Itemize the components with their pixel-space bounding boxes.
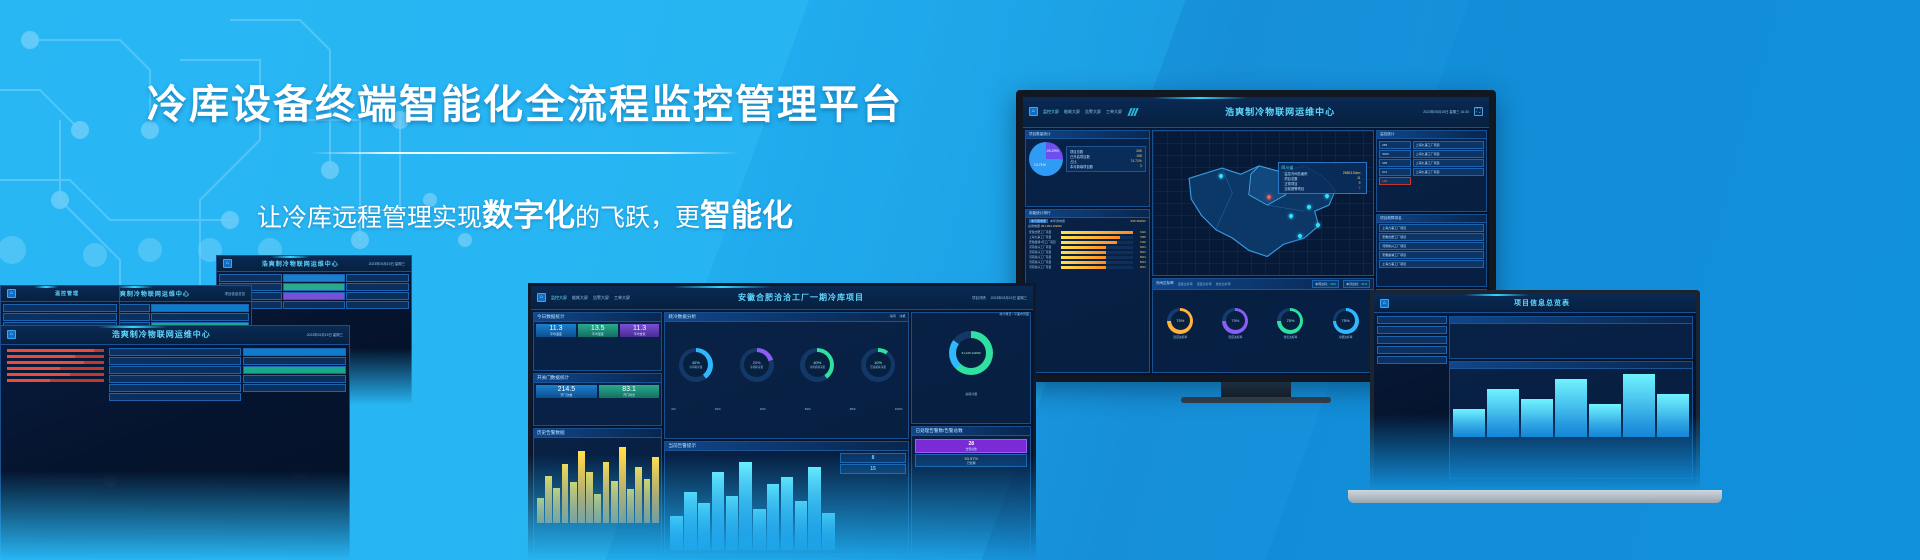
gauge-row: 75% 温度达标率 75% 湿度达标率 <box>1153 290 1373 355</box>
panel-cool-total: 31,215.12kWh 总耗冷量 <box>911 312 1031 424</box>
monitor-e-mid <box>109 348 242 552</box>
monitor-e-left <box>4 348 107 552</box>
card-value: 214.5 <box>537 386 596 393</box>
legend-cold-room: 冷间 <box>889 314 895 320</box>
tab-alarm[interactable]: 告警大屏 <box>1085 109 1101 115</box>
map-stat-row: 当前报警项目2 <box>1281 186 1363 191</box>
bar-track <box>1061 256 1133 259</box>
gauge-temperature: 75% 温度达标率 <box>1167 308 1193 339</box>
alarm-row[interactable]: 上海九事工厂项目 <box>1379 224 1484 232</box>
ring-label: 压缩机耗冷量 <box>870 365 886 369</box>
row[interactable] <box>3 304 117 312</box>
bar-track <box>1061 251 1133 254</box>
laptop-body <box>1374 313 1696 482</box>
bar-label: 河南新兴工厂项目 <box>1029 260 1059 264</box>
panel-handled-alarm: 已处理告警数/告警总数 28 告警总数 53.57% 已处理 <box>911 426 1031 555</box>
cool-ring-2: 20% 冷机耗冷量 <box>740 348 774 382</box>
laptop-base <box>1348 490 1722 503</box>
history-alarm-chart <box>534 438 661 526</box>
bar-value: 6513 <box>1135 261 1146 264</box>
tab-workorder[interactable]: 工单大屏 <box>1106 109 1122 115</box>
realtime-chart <box>667 453 837 552</box>
monitor-base <box>1181 397 1331 403</box>
monitor-c-meta: 项目信息总览 <box>225 291 245 296</box>
panel-monitor-stats: 监控统计 265 3025 335 972 135 上海九事工厂项目 <box>1376 130 1487 213</box>
bar-track <box>1061 246 1133 249</box>
reach-tab-oxygen[interactable]: 含氧达标率 <box>1216 282 1231 286</box>
row[interactable] <box>109 366 242 374</box>
panel-title: 今日数据统计 <box>534 313 661 322</box>
bar-label: 安徽巢湖1号工厂项目 <box>1029 240 1059 244</box>
handled-legend: 28 告警总数 53.57% 已处理 <box>915 439 1027 467</box>
panel-today-stats: 今日数据统计 11.3 平均温度 13.5 平均湿度 11.3 <box>533 312 662 370</box>
ring-label: 冷机耗冷量 <box>750 365 763 369</box>
panel-reach-rate: 冷间达标率 温度达标率 湿度达标率 含氧达标率 本周达标：29% 本月达标：31… <box>1152 278 1374 373</box>
bar-fill <box>1061 236 1120 239</box>
row[interactable] <box>243 348 346 356</box>
card-value: 83.1 <box>600 386 659 393</box>
monitor-row[interactable]: 上海九事工厂项目 <box>1413 141 1484 149</box>
gauge-humidity: 75% 湿度达标率 <box>1222 308 1248 339</box>
alarm-row[interactable]: 上海九事工厂项目 <box>1379 260 1484 268</box>
subtitle-middle: 的飞跃，更 <box>575 204 700 232</box>
realtime-body: 8 15 <box>665 451 908 554</box>
axis-tick: 0% <box>671 407 675 411</box>
gauge-cooling: 75% 冷量达标率 <box>1333 308 1359 339</box>
row[interactable] <box>243 357 346 365</box>
laptop-right-device: ⌂ 项目信息总览表 <box>1370 290 1700 490</box>
cool-analysis-header: 耗冷数据分析 冷间 冷机 <box>665 313 908 322</box>
bar-row: 河南新兴工厂项目6513 <box>1029 245 1146 249</box>
monitor-row[interactable]: 上海九事工厂项目 <box>1413 150 1484 158</box>
center-header: ⌂ 监控大屏 能耗大屏 告警大屏 工单大屏 安徽合肥洽洽工厂一期冷库项目 项目详… <box>531 286 1033 310</box>
subtitle-emphasis-2: 智能化 <box>700 198 793 233</box>
bar-track <box>1061 236 1133 239</box>
gauge-label: 湿度达标率 <box>1222 335 1248 339</box>
banner-root: 冷库设备终端智能化全流程监控管理平台 让冷库远程管理实现数字化的飞跃，更智能化 … <box>0 0 1920 560</box>
monitor-e-device: ⌂ 浩爽制冷物联网运维中心 2023年05月15日 星期三 <box>0 325 350 560</box>
energy-bar-chart: 安徽合肥工厂项目6116 上海九事工厂项目7665 安徽巢湖1号工厂项目7402… <box>1026 230 1149 269</box>
monitor-badge: 3025 <box>1379 150 1410 158</box>
list-item[interactable] <box>151 313 249 321</box>
sidebar-item[interactable] <box>1377 336 1447 344</box>
header-slash-decoration <box>1129 108 1137 116</box>
reach-tab-temp[interactable]: 温度达标率 <box>1178 282 1193 286</box>
cool-total-ring-wrap: 31,215.12kWh <box>912 313 1030 392</box>
china-map-icon <box>1153 131 1373 275</box>
bar-row: 河南新兴工厂项目6513 <box>1029 265 1146 269</box>
cool-total-label: 总耗冷量 <box>912 392 1030 396</box>
reach-tab-humidity[interactable]: 湿度达标率 <box>1197 282 1212 286</box>
subtitle-prefix: 让冷库远程管理实现 <box>257 204 482 232</box>
panel-door-stats: 开关门数据统计 214.5 开门次数 83.1 开门时长 <box>533 373 662 426</box>
dashboard-timestamp: 2023年05月15日 星期三 16:30 <box>1423 109 1469 114</box>
grid-cell[interactable] <box>346 301 409 309</box>
gauge-label: 含氧达标率 <box>1277 335 1303 339</box>
energy-tab-year[interactable]: 本年用电量 <box>1050 219 1065 223</box>
stat-value: 2 <box>1359 186 1361 191</box>
stat-value: 3 <box>1140 164 1142 169</box>
monitor-badge: 265 <box>1379 141 1410 149</box>
grid-cell[interactable] <box>283 292 346 300</box>
panel-title: 项目故障排名 <box>1377 215 1486 223</box>
today-card-humidity: 13.5 平均湿度 <box>578 324 618 337</box>
grid-cell[interactable] <box>219 274 282 282</box>
bar-fill <box>1061 251 1106 254</box>
card-label: 本周达标： <box>1315 282 1330 286</box>
cool-ring-4: 10% 压缩机耗冷量 <box>861 348 895 382</box>
bar-label: 上海九事工厂项目 <box>1029 235 1059 239</box>
subtitle-emphasis-1: 数字化 <box>482 198 575 233</box>
panel-realtime-alarm: 当前告警提示 8 15 <box>664 441 909 555</box>
home-icon[interactable]: ⌂ <box>7 289 16 298</box>
energy-secondary-value: 365.36kWh <box>1131 219 1146 223</box>
grid-cell[interactable] <box>346 274 409 282</box>
bar-row: 上海九事工厂项目7665 <box>1029 235 1146 239</box>
monitor-row[interactable]: 上海九事工厂项目 <box>1413 159 1484 167</box>
reach-rate-header: 冷间达标率 温度达标率 湿度达标率 含氧达标率 本周达标：29% 本月达标：31… <box>1153 279 1373 290</box>
handled-body: 28 告警总数 53.57% 已处理 <box>912 436 1030 470</box>
monitor-badge-alert: 135 <box>1379 177 1410 185</box>
map-info-card: 四川省 监控冷间总面积26503.54m² 项目总数11 正常项目9 当前报警项… <box>1278 162 1366 194</box>
home-icon[interactable]: ⌂ <box>223 259 232 268</box>
home-icon[interactable]: ⌂ <box>7 330 16 339</box>
cool-ring-3: 40% 冷风机耗冷量 <box>800 348 834 382</box>
center-footer-note: 统计概览 / 平面布局图 <box>999 312 1029 316</box>
monitor-b-title: 浩爽制冷物联网运维中心 <box>237 259 364 268</box>
panel-title: 冷间达标率 <box>1156 281 1174 286</box>
reach-card-week: 本周达标：29% <box>1312 280 1339 288</box>
bar-track <box>1061 266 1133 269</box>
center-body: 今日数据统计 11.3 平均温度 13.5 平均湿度 11.3 <box>531 310 1033 557</box>
laptop-title: 项目信息总览表 <box>1394 298 1690 308</box>
alarm-row[interactable]: 安徽巢湖工厂项目 <box>1379 251 1484 259</box>
bar-track <box>1061 241 1133 244</box>
panel-title: 监控统计 <box>1377 131 1486 139</box>
panel-title: 当前告警提示 <box>665 442 908 451</box>
bar-track <box>1061 231 1133 234</box>
list-item[interactable] <box>151 304 249 312</box>
monitor-d-title: 温控管理 <box>21 290 113 297</box>
center-dashboard-screen: ⌂ 监控大屏 能耗大屏 告警大屏 工单大屏 安徽合肥洽洽工厂一期冷库项目 项目详… <box>528 283 1036 560</box>
stat-label: 本月新增项目数 <box>1070 164 1093 169</box>
tab-workorder[interactable]: 工单大屏 <box>614 295 630 301</box>
today-card-temp: 11.3 平均温度 <box>536 324 576 337</box>
bar-fill <box>1061 246 1106 249</box>
today-card-oxygen: 11.3 平均含氧 <box>620 324 660 337</box>
row[interactable] <box>3 313 117 321</box>
panel-cool-analysis: 耗冷数据分析 冷间 冷机 40% 冷间耗冷量 <box>664 312 909 438</box>
axis-tick: 20% <box>715 407 721 411</box>
panel-china-map: 四川省 监控冷间总面积26503.54m² 项目总数11 正常项目9 当前报警项… <box>1152 130 1374 276</box>
bar-value: 7402 <box>1135 241 1146 244</box>
bar-value: 6116 <box>1135 231 1146 234</box>
bar-value: 7665 <box>1135 236 1146 239</box>
monitor-e-title: 浩爽制冷物联网运维中心 <box>21 329 302 340</box>
center-left-column: 今日数据统计 11.3 平均温度 13.5 平均湿度 11.3 <box>533 312 662 555</box>
sidebar-item[interactable] <box>1377 326 1447 334</box>
home-icon[interactable]: ⌂ <box>1380 299 1389 308</box>
monitor-e-screen: ⌂ 浩爽制冷物联网运维中心 2023年05月15日 星期三 <box>0 325 350 560</box>
monitor-b-meta: 2023年05月15日 星期三 <box>369 261 405 266</box>
center-right-column: 31,215.12kWh 总耗冷量 已处理告警数/告警总数 28 告警总数 <box>911 312 1031 555</box>
laptop-sidebar <box>1377 316 1447 479</box>
gauge-value: 75% <box>1226 311 1245 330</box>
handled-legend-label-2: 已处理 <box>918 461 1024 465</box>
card-label: 开门次数 <box>537 393 596 397</box>
monitor-d-header: ⌂ 温控管理 <box>1 286 119 302</box>
card-label: 平均含氧 <box>621 332 659 336</box>
row[interactable] <box>109 357 242 365</box>
tab-alarm[interactable]: 告警大屏 <box>593 295 609 301</box>
panel-title: 耗冷数据分析 <box>668 314 696 320</box>
handled-legend-label: 告警总数 <box>918 447 1024 451</box>
project-stats-list: 项目总数265 已开启项目数198 占比74.71% 本月新增项目数3 <box>1066 146 1146 172</box>
cool-ring-row: 40% 冷间耗冷量 20% 冷机耗冷量 <box>665 322 908 406</box>
monitor-badge: 972 <box>1379 168 1410 176</box>
panel-history-alarm: 历史告警数据 <box>533 428 662 555</box>
row[interactable] <box>243 375 346 383</box>
bar-track <box>1061 261 1133 264</box>
center-monitor-device: ⌂ 监控大屏 能耗大屏 告警大屏 工单大屏 安徽合肥洽洽工厂一期冷库项目 项目详… <box>528 283 1036 560</box>
center-right-meta: 项目详情 <box>972 295 986 300</box>
monitor-badge-column: 265 3025 335 972 135 <box>1379 141 1410 185</box>
row[interactable] <box>109 393 242 401</box>
laptop-main <box>1449 316 1693 479</box>
grid-cell[interactable] <box>283 301 346 309</box>
page-title: 冷库设备终端智能化全流程监控管理平台 <box>0 72 1050 130</box>
sidebar-item[interactable] <box>1377 356 1447 364</box>
realtime-value-1: 8 <box>872 455 875 461</box>
legend-chiller: 冷机 <box>899 314 905 320</box>
door-card-duration: 83.1 开门时长 <box>599 385 660 398</box>
axis-tick: 40% <box>760 407 766 411</box>
grid-cell[interactable] <box>346 283 409 291</box>
headline-block: 冷库设备终端智能化全流程监控管理平台 让冷库远程管理实现数字化的飞跃，更智能化 <box>0 72 1050 235</box>
bar-label: 河南新兴工厂项目 <box>1029 265 1059 269</box>
row[interactable] <box>109 375 242 383</box>
alarm-rank-list: 上海九事工厂项目 安徽合肥工厂项目 河南新兴工厂项目 安徽巢湖工厂项目 上海九事… <box>1377 223 1486 269</box>
panel-title: 已处理告警数/告警总数 <box>912 427 1030 436</box>
dashboard-header: ⌂ 监控大屏 能耗大屏 告警大屏 工单大屏 浩爽制冷物联网运维中心 2023年0… <box>1023 97 1489 128</box>
card-delta: 29% <box>1330 282 1336 286</box>
row[interactable] <box>109 384 242 392</box>
bar-fill <box>1061 241 1117 244</box>
bar-label: 河南新兴工厂项目 <box>1029 245 1059 249</box>
card-delta: 31% <box>1361 282 1367 286</box>
row[interactable] <box>109 348 242 356</box>
gauge-value: 75% <box>1171 311 1190 330</box>
laptop-header: ⌂ 项目信息总览表 <box>1374 294 1696 313</box>
monitor-e-right <box>243 348 346 552</box>
fullscreen-icon[interactable]: ⛶ <box>1474 107 1483 116</box>
gauge-label: 温度达标率 <box>1167 335 1193 339</box>
door-card-count: 214.5 开门次数 <box>536 385 597 398</box>
monitor-e-meta: 2023年05月15日 星期三 <box>307 332 343 337</box>
home-icon[interactable]: ⌂ <box>537 293 546 302</box>
tab-monitor[interactable]: 监控大屏 <box>551 295 567 301</box>
bar-fill <box>1061 266 1106 269</box>
grid-cell[interactable] <box>346 292 409 300</box>
bar-row: 河南新兴工厂项目6513 <box>1029 250 1146 254</box>
card-label: 平均湿度 <box>579 332 617 336</box>
bar-value: 6513 <box>1135 246 1146 249</box>
realtime-value-2: 15 <box>870 466 876 472</box>
center-main-column: 耗冷数据分析 冷间 冷机 40% 冷间耗冷量 <box>664 312 909 555</box>
bar-row: 安徽巢湖1号工厂项目7402 <box>1029 240 1146 244</box>
dashboard-brand-title: 浩爽制冷物联网运维中心 <box>1142 105 1418 118</box>
card-label: 平均温度 <box>537 332 575 336</box>
monitor-e-header: ⌂ 浩爽制冷物联网运维中心 2023年05月15日 星期三 <box>1 326 349 345</box>
bar-fill <box>1061 231 1133 234</box>
stat-row: 本月新增项目数3 <box>1067 164 1145 169</box>
bar-value: 6513 <box>1135 256 1146 259</box>
tab-energy[interactable]: 能耗大屏 <box>1064 109 1080 115</box>
center-brand-title: 安徽合肥洽洽工厂一期冷库项目 <box>635 292 967 303</box>
axis-tick: 100% <box>895 407 903 411</box>
title-divider <box>310 152 740 154</box>
realtime-values: 8 15 <box>840 453 907 552</box>
ring-label: 冷风机耗冷量 <box>810 365 826 369</box>
card-label: 开门时长 <box>600 393 659 397</box>
monitor-row[interactable]: 上海九事工厂项目 <box>1413 168 1484 176</box>
sidebar-item[interactable] <box>1377 316 1447 324</box>
bar-label: 河南新兴工厂项目 <box>1029 250 1059 254</box>
panel-title: 历史告警数据 <box>534 429 661 438</box>
axis-tick: 60% <box>805 407 811 411</box>
monitor-stand <box>1221 382 1291 398</box>
monitor-stats-body: 265 3025 335 972 135 上海九事工厂项目 上海九事工厂项目 上… <box>1377 139 1486 187</box>
axis-tick: 80% <box>850 407 856 411</box>
grid-cell[interactable] <box>283 283 346 291</box>
cool-ring-1: 40% 冷间耗冷量 <box>679 348 713 382</box>
door-cards: 214.5 开门次数 83.1 开门时长 <box>534 383 661 400</box>
cool-total-value: 31,215.12kWh <box>956 338 986 368</box>
dashboard-center-column: 四川省 监控冷间总面积26503.54m² 项目总数11 正常项目9 当前报警项… <box>1152 130 1374 373</box>
grid-cell[interactable] <box>283 274 346 282</box>
gauge-value: 75% <box>1336 311 1355 330</box>
bar-fill <box>1061 261 1106 264</box>
row[interactable] <box>243 384 346 392</box>
tab-energy[interactable]: 能耗大屏 <box>572 295 588 301</box>
monitor-e-body <box>1 345 349 555</box>
reach-card-month: 本月达标：31% <box>1343 280 1370 288</box>
ring-label: 冷间耗冷量 <box>689 365 702 369</box>
monitor-badge: 335 <box>1379 159 1410 167</box>
laptop-screen: ⌂ 项目信息总览表 <box>1370 290 1700 490</box>
bar-label: 河南新兴工厂项目 <box>1029 255 1059 259</box>
monitor-b-header: ⌂ 浩爽制冷物联网运维中心 2023年05月15日 星期三 <box>217 256 411 272</box>
panel-alarm-rank: 项目故障排名 上海九事工厂项目 安徽合肥工厂项目 河南新兴工厂项目 安徽巢湖工厂… <box>1376 214 1487 287</box>
row[interactable] <box>243 366 346 374</box>
stat-label: 当前报警项目 <box>1284 186 1304 191</box>
bar-fill <box>1061 256 1106 259</box>
page-subtitle: 让冷库远程管理实现数字化的飞跃，更智能化 <box>0 190 1050 235</box>
today-cards: 11.3 平均温度 13.5 平均湿度 11.3 平均含氧 <box>534 322 661 339</box>
cool-axis: 0% 20% 40% 60% 80% 100% <box>665 407 908 411</box>
gauge-label: 冷量达标率 <box>1333 335 1359 339</box>
panel-title: 开关门数据统计 <box>534 374 661 383</box>
sidebar-item[interactable] <box>1377 346 1447 354</box>
alarm-row[interactable]: 河南新兴工厂项目 <box>1379 242 1484 250</box>
monitor-rows-column: 上海九事工厂项目 上海九事工厂项目 上海九事工厂项目 上海九事工厂项目 <box>1413 141 1484 185</box>
center-timestamp: 2023年05月15日 星期三 <box>991 295 1027 300</box>
bar-value: 6513 <box>1135 251 1146 254</box>
bar-row: 河南新兴工厂项目6513 <box>1029 260 1146 264</box>
card-label: 本月达标： <box>1346 282 1361 286</box>
gauge-oxygen: 75% 含氧达标率 <box>1277 308 1303 339</box>
bar-value: 6513 <box>1135 266 1146 269</box>
bar-row: 河南新兴工厂项目6513 <box>1029 255 1146 259</box>
alarm-row[interactable]: 安徽合肥工厂项目 <box>1379 233 1484 241</box>
gauge-value: 75% <box>1281 311 1300 330</box>
